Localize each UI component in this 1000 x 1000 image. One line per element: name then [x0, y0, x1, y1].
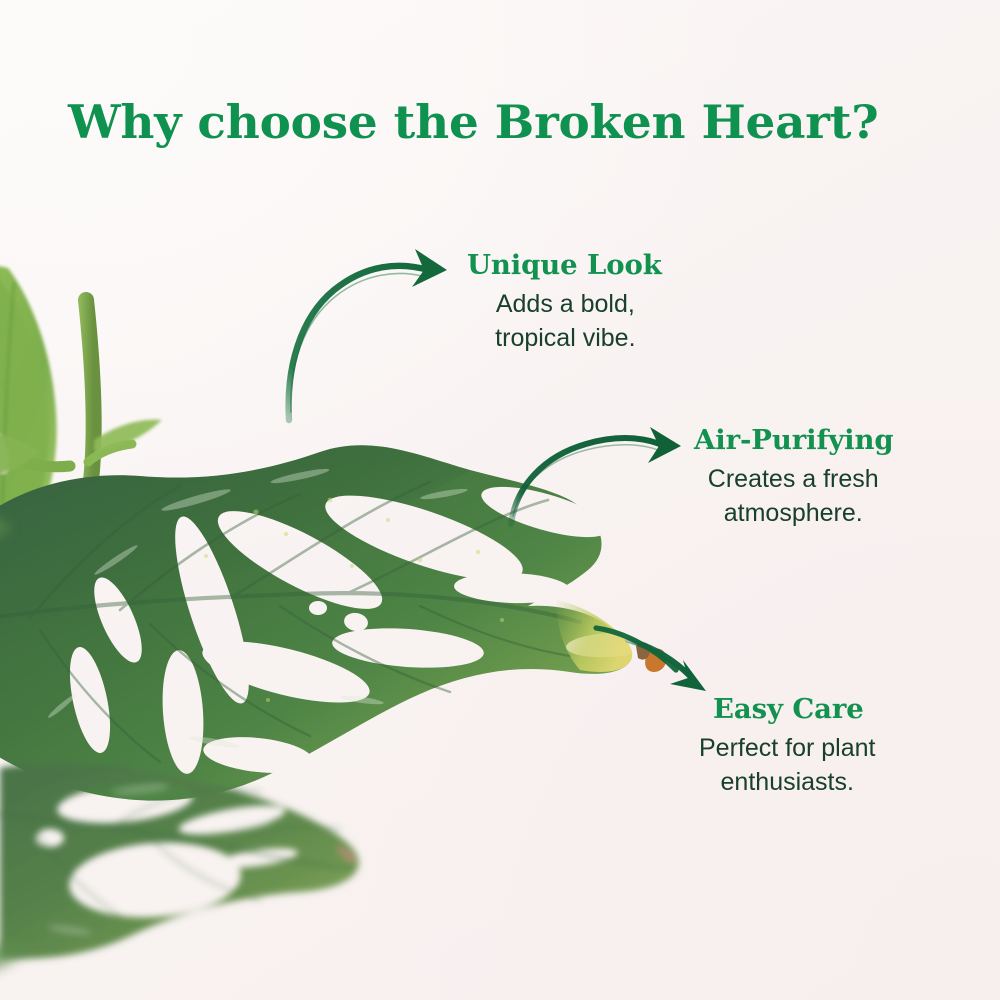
feature-title: Unique Look: [467, 250, 662, 280]
feature-air-purifying: Air-Purifying Creates a fresh atmosphere…: [694, 425, 893, 530]
feature-description: Creates a fresh atmosphere.: [693, 462, 893, 530]
promo-infographic: Why choose the Broken Heart? Unique Look…: [0, 0, 1000, 1000]
feature-description: Perfect for plant enthusiasts.: [699, 731, 875, 799]
feature-title: Easy Care: [713, 694, 875, 724]
feature-easy-care: Easy Care Perfect for plant enthusiasts.: [713, 694, 875, 799]
page-title: Why choose the Broken Heart?: [68, 95, 878, 149]
feature-description: Adds a bold, tropical vibe.: [469, 287, 662, 355]
feature-title: Air-Purifying: [694, 425, 893, 455]
feature-unique-look: Unique Look Adds a bold, tropical vibe.: [467, 250, 662, 355]
copy-layer: Why choose the Broken Heart? Unique Look…: [0, 0, 1000, 1000]
